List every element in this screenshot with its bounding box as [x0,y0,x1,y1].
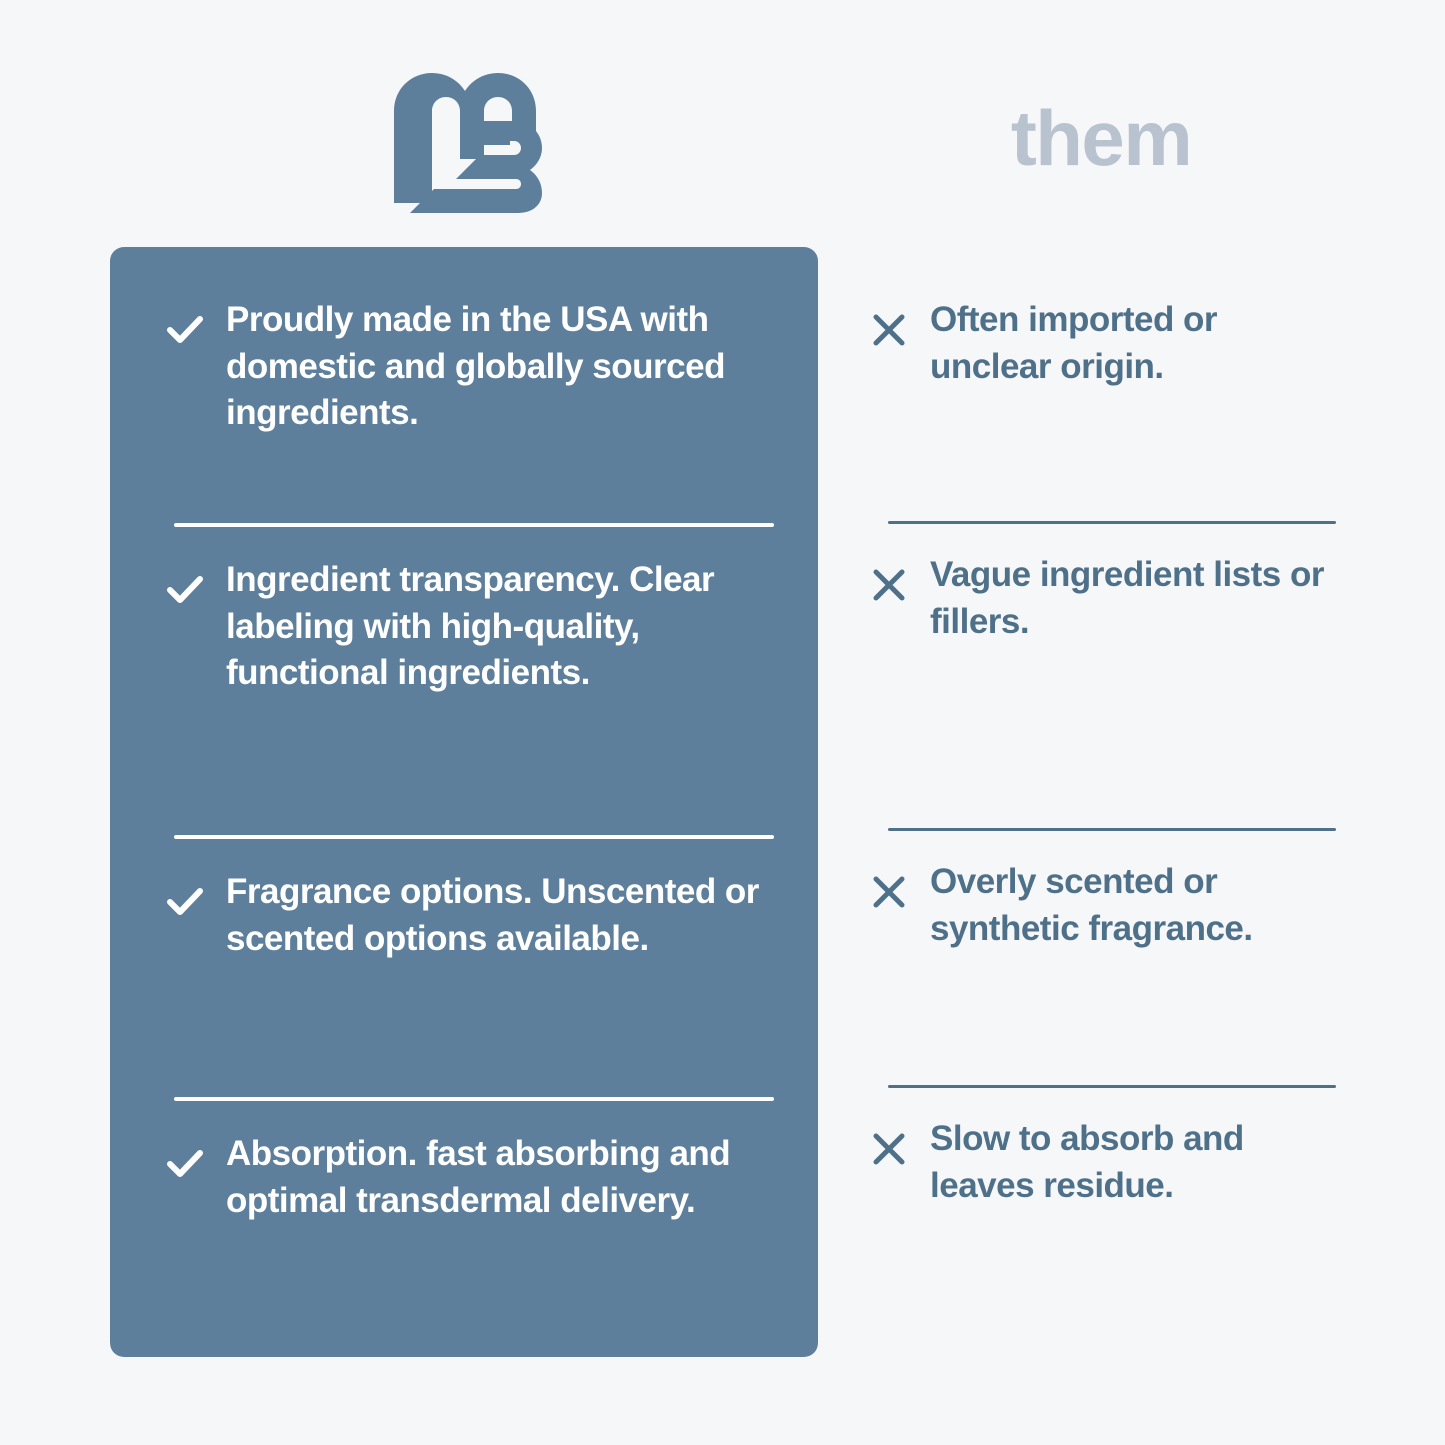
us-list-item-label: Absorption. fast absorbing and optimal t… [226,1131,766,1224]
check-icon [162,307,208,353]
them-list-item-label: Slow to absorb and leaves residue. [930,1116,1336,1209]
us-list-item-label: Ingredient transparency. Clear labeling … [226,557,766,697]
them-column: Often imported or unclear origin. Vague … [866,247,1336,1357]
them-list-item-label: Often imported or unclear origin. [930,297,1336,390]
them-divider [888,828,1336,831]
check-icon [162,567,208,613]
them-list-item-label: Overly scented or synthetic fragrance. [930,859,1336,952]
us-list-item: Proudly made in the USA with domestic an… [162,297,766,493]
us-list-item-label: Fragrance options. Unscented or scented … [226,869,766,962]
them-list-item-label: Vague ingredient lists or fillers. [930,552,1336,645]
them-heading-label: them [1011,99,1191,177]
brand-logo [110,55,818,220]
them-divider [888,1085,1336,1088]
x-icon [866,1126,912,1172]
x-icon [866,307,912,353]
check-icon [162,1141,208,1187]
them-divider [888,521,1336,524]
them-list-item: Often imported or unclear origin. [866,297,1336,493]
them-list-item: Overly scented or synthetic fragrance. [866,859,1336,1057]
us-divider [174,835,774,839]
us-list-item: Absorption. fast absorbing and optimal t… [162,1131,766,1329]
them-list-item: Slow to absorb and leaves residue. [866,1116,1336,1314]
us-list-item: Ingredient transparency. Clear labeling … [162,557,766,805]
us-divider [174,523,774,527]
comparison-columns: Proudly made in the USA with domestic an… [0,247,1445,1445]
us-list-item-label: Proudly made in the USA with domestic an… [226,297,766,437]
header: them [0,0,1445,247]
us-column-card: Proudly made in the USA with domestic an… [110,247,818,1357]
check-icon [162,879,208,925]
us-divider [174,1097,774,1101]
them-heading: them [866,55,1336,220]
mb-monogram-logo-icon [380,63,548,213]
comparison-infographic: them Proudly made in the USA with domest… [0,0,1445,1445]
us-list-item: Fragrance options. Unscented or scented … [162,869,766,1067]
them-list-item: Vague ingredient lists or fillers. [866,552,1336,800]
x-icon [866,562,912,608]
x-icon [866,869,912,915]
